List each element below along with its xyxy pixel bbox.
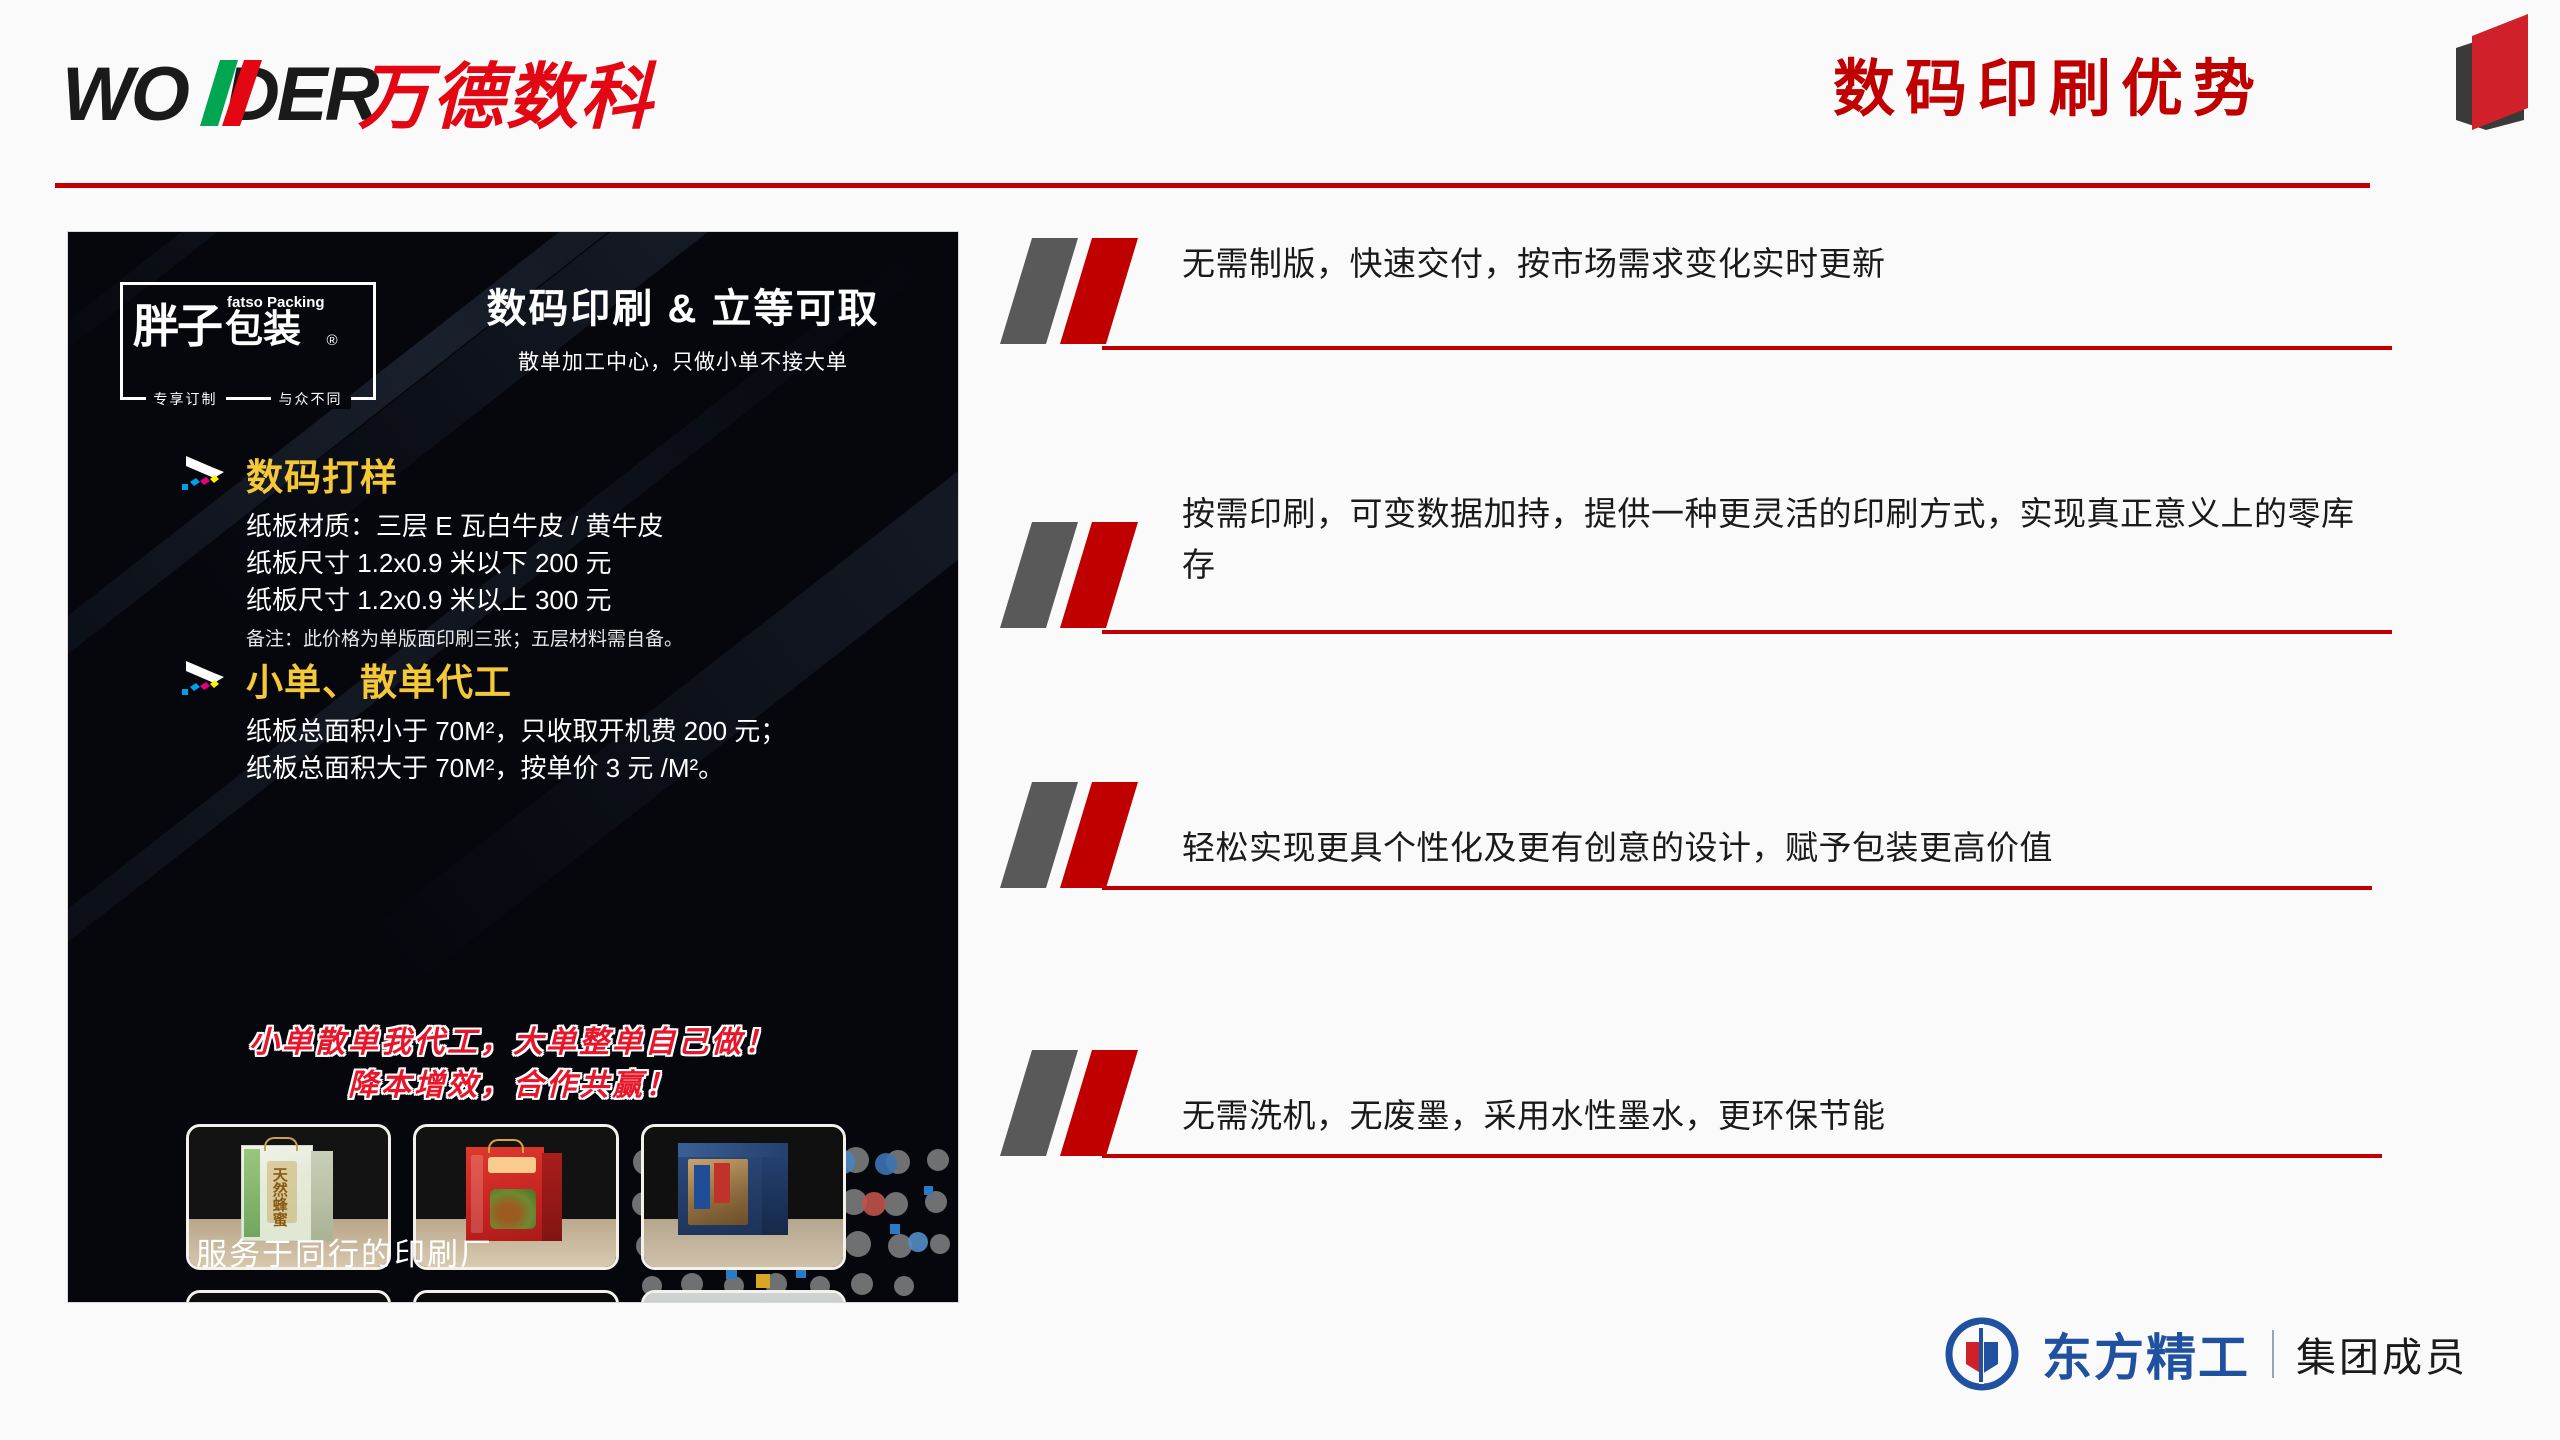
poster-section-1-note: 备注：此价格为单版面印刷三张；五层材料需自备。 (246, 624, 940, 651)
poster-headline: 数码印刷 & 立等可取 (443, 276, 923, 334)
advantage-text-3: 轻松实现更具个性化及更有创意的设计，赋予包装更高价值 (1182, 782, 2420, 873)
kraft-carton-photo (186, 1290, 391, 1302)
registered-mark-icon: ® (327, 332, 338, 349)
advantage-text-4: 无需洗机，无废墨，采用水性墨水，更环保节能 (1182, 1032, 2420, 1141)
photo-row-2: 经典 中国 ◎ 原装 ★★★★★ 经典 齐齐哈尔富宏商业有限公司 (186, 1290, 846, 1302)
poster-section-2-title: 小单、散单代工 (246, 652, 512, 706)
advantage-item-1[interactable]: 无需制版，快速交付，按市场需求变化实时更新 (1000, 232, 2420, 482)
large-printed-carton-photo: 祖国万岁 (641, 1290, 846, 1302)
poster-section-1: 数码打样 纸板材质：三层 E 瓦白牛皮 / 黄牛皮 纸板尺寸 1.2x0.9 米… (180, 447, 940, 651)
dongfang-jingong-logo-icon (1944, 1316, 2020, 1392)
double-slash-marker-icon (1000, 776, 1215, 894)
fatso-logo-pack: 包装 (225, 311, 325, 349)
svg-text:WO: WO (62, 52, 189, 136)
classic-carton-pair-photo: 经典 中国 ◎ 原装 ★★★★★ 经典 齐齐哈尔富宏商业有限公司 (413, 1290, 618, 1302)
advantage-text-2: 按需印刷，可变数据加持，提供一种更灵活的印刷方式，实现真正意义上的零库存 (1182, 482, 2372, 590)
double-slash-marker-icon (1000, 232, 1215, 350)
header-divider (55, 183, 2370, 188)
fatso-tag-left: 专享订制 (146, 389, 226, 409)
beef-carton-photo (641, 1124, 846, 1270)
cmyk-arrow-icon (180, 454, 232, 494)
poster-slogan: 小单散单我代工，大单整单自己做！ 降本增效，合作共赢！ (68, 1022, 958, 1107)
page-title: 数码印刷优势 (1833, 38, 2265, 128)
poster-section-1-line-1: 纸板材质：三层 E 瓦白牛皮 / 黄牛皮 (246, 508, 940, 545)
fatso-logo-cn: 胖子 (133, 305, 221, 349)
advantage-underline-2 (1102, 630, 2392, 634)
cmyk-arrow-icon (180, 659, 232, 699)
poster-slogan-line-1: 小单散单我代工，大单整单自己做！ (68, 1022, 958, 1065)
group-member-label: 集团成员 (2296, 1325, 2468, 1383)
poster-headline-block: 数码印刷 & 立等可取 散单加工中心，只做小单不接大单 (443, 276, 923, 376)
folded-page-mark-icon (2446, 8, 2542, 140)
footer-divider (2272, 1330, 2274, 1378)
group-footer-logo: 东方精工 集团成员 (1944, 1316, 2468, 1392)
poster-header: 胖子 fatso Packing 包装 ® 专享订制 与众不同 数码印刷 & 立… (68, 232, 958, 414)
poster-section-1-line-2: 纸板尺寸 1.2x0.9 米以下 200 元 (246, 545, 940, 582)
poster-slogan-line-2: 降本增效，合作共赢！ (68, 1065, 958, 1108)
poster-section-1-title: 数码打样 (246, 447, 398, 501)
advantage-underline-4 (1102, 1154, 2382, 1158)
advantage-underline-1 (1102, 346, 2392, 350)
poster-section-1-line-3: 纸板尺寸 1.2x0.9 米以上 300 元 (246, 582, 940, 619)
fatso-tag-right: 与众不同 (271, 389, 351, 409)
wonder-brand-logo: WO DER 万德数科 (62, 52, 762, 136)
double-slash-marker-icon (1000, 1044, 1215, 1162)
svg-text:万德数科: 万德数科 (358, 58, 657, 136)
group-company-name: 东方精工 (2042, 1318, 2250, 1390)
poster-section-2: 小单、散单代工 纸板总面积小于 70M²，只收取开机费 200 元； 纸板总面积… (180, 652, 940, 787)
poster-section-2-line-2: 纸板总面积大于 70M²，按单价 3 元 /M²。 (246, 750, 940, 787)
poster-image: 胖子 fatso Packing 包装 ® 专享订制 与众不同 数码印刷 & 立… (68, 232, 958, 1302)
wonder-logo-icon: WO DER 万德数科 (62, 52, 762, 136)
poster-section-2-line-1: 纸板总面积小于 70M²，只收取开机费 200 元； (246, 713, 940, 750)
advantage-text-1: 无需制版，快速交付，按市场需求变化实时更新 (1182, 232, 2420, 289)
advantage-item-2[interactable]: 按需印刷，可变数据加持，提供一种更灵活的印刷方式，实现真正意义上的零库存 (1000, 482, 2420, 782)
advantage-underline-3 (1102, 886, 2372, 890)
poster-subhead: 散单加工中心，只做小单不接大单 (443, 346, 923, 376)
poster-footer-text: 服务于同行的印刷厂 (196, 1229, 493, 1274)
poster-photo-grid: 天然蜂蜜 (186, 1124, 846, 1302)
slide-root: WO DER 万德数科 数码印刷优势 胖子 (0, 0, 2560, 1440)
advantage-item-4[interactable]: 无需洗机，无废墨，采用水性墨水，更环保节能 (1000, 1032, 2420, 1282)
advantages-list: 无需制版，快速交付，按市场需求变化实时更新 按需印刷，可变数据加持，提供一种更灵… (1000, 232, 2420, 1282)
fatso-logo: 胖子 fatso Packing 包装 ® 专享订制 与众不同 (120, 282, 376, 400)
advantage-item-3[interactable]: 轻松实现更具个性化及更有创意的设计，赋予包装更高价值 (1000, 782, 2420, 1032)
double-slash-marker-icon (1000, 516, 1215, 634)
